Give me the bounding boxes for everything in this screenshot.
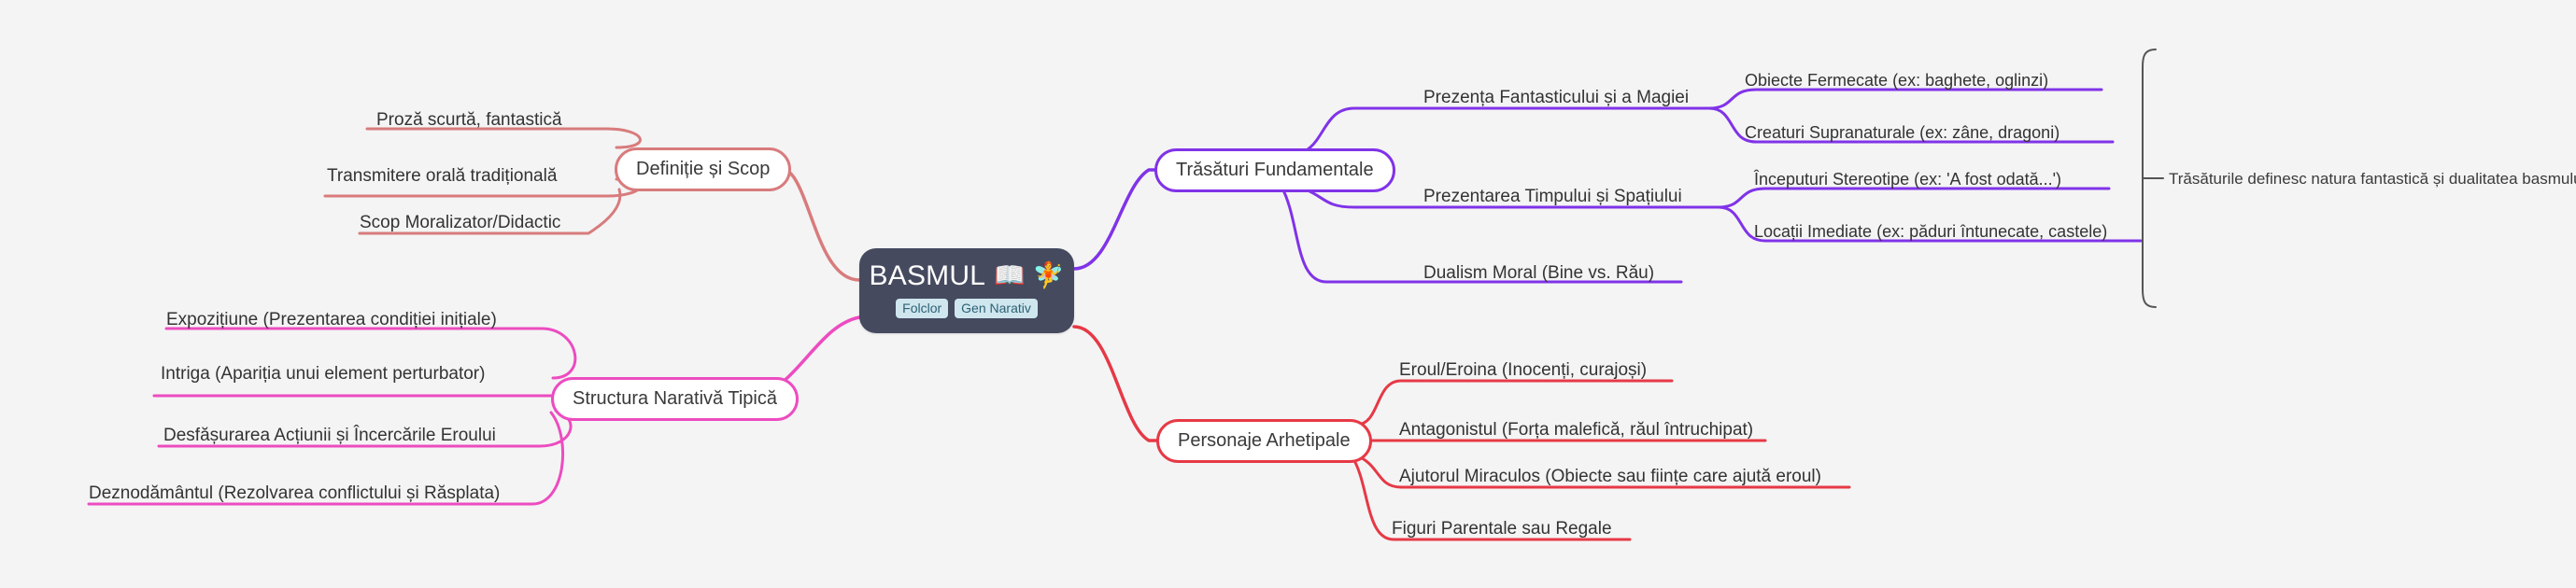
leaf-personaje-0[interactable]: Eroul/Eroina (Inocenți, curajoși)	[1399, 360, 1647, 381]
link-definitie-c0	[367, 129, 640, 147]
leaf-structura-2[interactable]: Desfășurarea Acțiunii și Încercările Ero…	[163, 426, 496, 446]
leaf-label: Obiecte Fermecate (ex: baghete, oglinzi)	[1745, 71, 2048, 90]
leaf-label: Prezența Fantasticului și a Magiei	[1423, 88, 1689, 107]
leaf-label: Ajutorul Miraculos (Obiecte sau ființe c…	[1399, 467, 1821, 486]
branch-node-definitie-si-scop[interactable]: Definiție și Scop	[615, 147, 791, 191]
branch-node-structura-narativa-tipica[interactable]: Structura Narativă Tipică	[551, 377, 799, 421]
branch-label: Structura Narativă Tipică	[573, 388, 777, 410]
branch-node-trasaturi-fundamentale[interactable]: Trăsături Fundamentale	[1154, 148, 1395, 192]
leaf-structura-0[interactable]: Expozițiune (Prezentarea condiției iniți…	[166, 310, 497, 330]
leaf-label: Intriga (Apariția unui element perturbat…	[161, 364, 485, 384]
link-root-trasaturi	[1074, 170, 1156, 269]
leaf-trasaturi-1-0[interactable]: Începuturi Stereotipe (ex: 'A fost odată…	[1754, 170, 2061, 189]
badge-folclor: Folclor	[896, 299, 948, 318]
leaf-trasaturi-0-1[interactable]: Creaturi Supranaturale (ex: zâne, dragon…	[1745, 123, 2059, 143]
leaf-personaje-1[interactable]: Antagonistul (Forța malefică, răul întru…	[1399, 420, 1753, 441]
leaf-label: Proză scurtă, fantastică	[376, 110, 562, 130]
branch-node-personaje-arhetipale[interactable]: Personaje Arhetipale	[1156, 419, 1372, 463]
root-title: BASMUL 📖 🧚	[870, 261, 1065, 291]
leaf-label: Antagonistul (Forța malefică, răul întru…	[1399, 420, 1753, 440]
branch-label: Personaje Arhetipale	[1178, 430, 1351, 452]
leaf-structura-3[interactable]: Deznodământul (Rezolvarea conflictului ș…	[89, 483, 500, 504]
leaf-trasaturi-2[interactable]: Dualism Moral (Bine vs. Rău)	[1423, 263, 1654, 284]
leaf-definitie-1[interactable]: Transmitere orală tradițională	[327, 166, 557, 187]
leaf-definitie-2[interactable]: Scop Moralizator/Didactic	[360, 213, 560, 233]
annotation-label: Trăsăturile definesc natura fantastică ș…	[2169, 170, 2576, 189]
link-root-definitie	[777, 166, 859, 280]
leaf-trasaturi-0-0[interactable]: Obiecte Fermecate (ex: baghete, oglinzi)	[1745, 71, 2048, 91]
badge-gen-narativ: Gen Narativ	[955, 299, 1038, 318]
leaf-label: Prezentarea Timpului și Spațiului	[1423, 187, 1682, 206]
link-root-personaje	[1074, 327, 1158, 441]
root-badges: Folclor Gen Narativ	[896, 299, 1038, 318]
leaf-personaje-2[interactable]: Ajutorul Miraculos (Obiecte sau ființe c…	[1399, 467, 1821, 487]
leaf-trasaturi-1-1[interactable]: Locații Imediate (ex: păduri întunecate,…	[1754, 222, 2107, 242]
leaf-definitie-0[interactable]: Proză scurtă, fantastică	[376, 110, 562, 131]
leaf-personaje-3[interactable]: Figuri Parentale sau Regale	[1392, 519, 1612, 539]
link-trasaturi-c1-g0	[1719, 189, 2109, 207]
annotation-text: Trăsăturile definesc natura fantastică ș…	[2169, 170, 2576, 188]
branch-label: Trăsături Fundamentale	[1176, 160, 1374, 181]
leaf-label: Eroul/Eroina (Inocenți, curajoși)	[1399, 360, 1647, 380]
root-title-text: BASMUL	[870, 261, 986, 291]
leaf-label: Creaturi Supranaturale (ex: zâne, dragon…	[1745, 123, 2059, 142]
leaf-trasaturi-0[interactable]: Prezența Fantasticului și a Magiei	[1423, 88, 1689, 108]
link-personaje-c0	[1356, 381, 1672, 425]
leaf-label: Expozițiune (Prezentarea condiției iniți…	[166, 310, 497, 329]
leaf-structura-1[interactable]: Intriga (Apariția unui element perturbat…	[161, 364, 485, 385]
leaf-trasaturi-1[interactable]: Prezentarea Timpului și Spațiului	[1423, 187, 1682, 207]
annotation-bracket	[2143, 49, 2156, 307]
leaf-label: Scop Moralizator/Didactic	[360, 213, 560, 232]
leaf-label: Deznodământul (Rezolvarea conflictului ș…	[89, 483, 500, 503]
leaf-label: Figuri Parentale sau Regale	[1392, 519, 1612, 539]
book-fairy-emoji: 📖 🧚	[994, 263, 1064, 288]
leaf-label: Desfășurarea Acțiunii și Încercările Ero…	[163, 426, 496, 445]
leaf-label: Dualism Moral (Bine vs. Rău)	[1423, 263, 1654, 283]
root-node[interactable]: BASMUL 📖 🧚 Folclor Gen Narativ	[859, 248, 1074, 333]
leaf-label: Locații Imediate (ex: păduri întunecate,…	[1754, 222, 2107, 241]
branch-label: Definiție și Scop	[636, 159, 770, 180]
leaf-label: Transmitere orală tradițională	[327, 166, 557, 186]
leaf-label: Începuturi Stereotipe (ex: 'A fost odată…	[1754, 170, 2061, 189]
mindmap-canvas: BASMUL 📖 🧚 Folclor Gen Narativ Definiție…	[0, 0, 2576, 588]
link-trasaturi-c0-g0	[1709, 90, 2102, 108]
